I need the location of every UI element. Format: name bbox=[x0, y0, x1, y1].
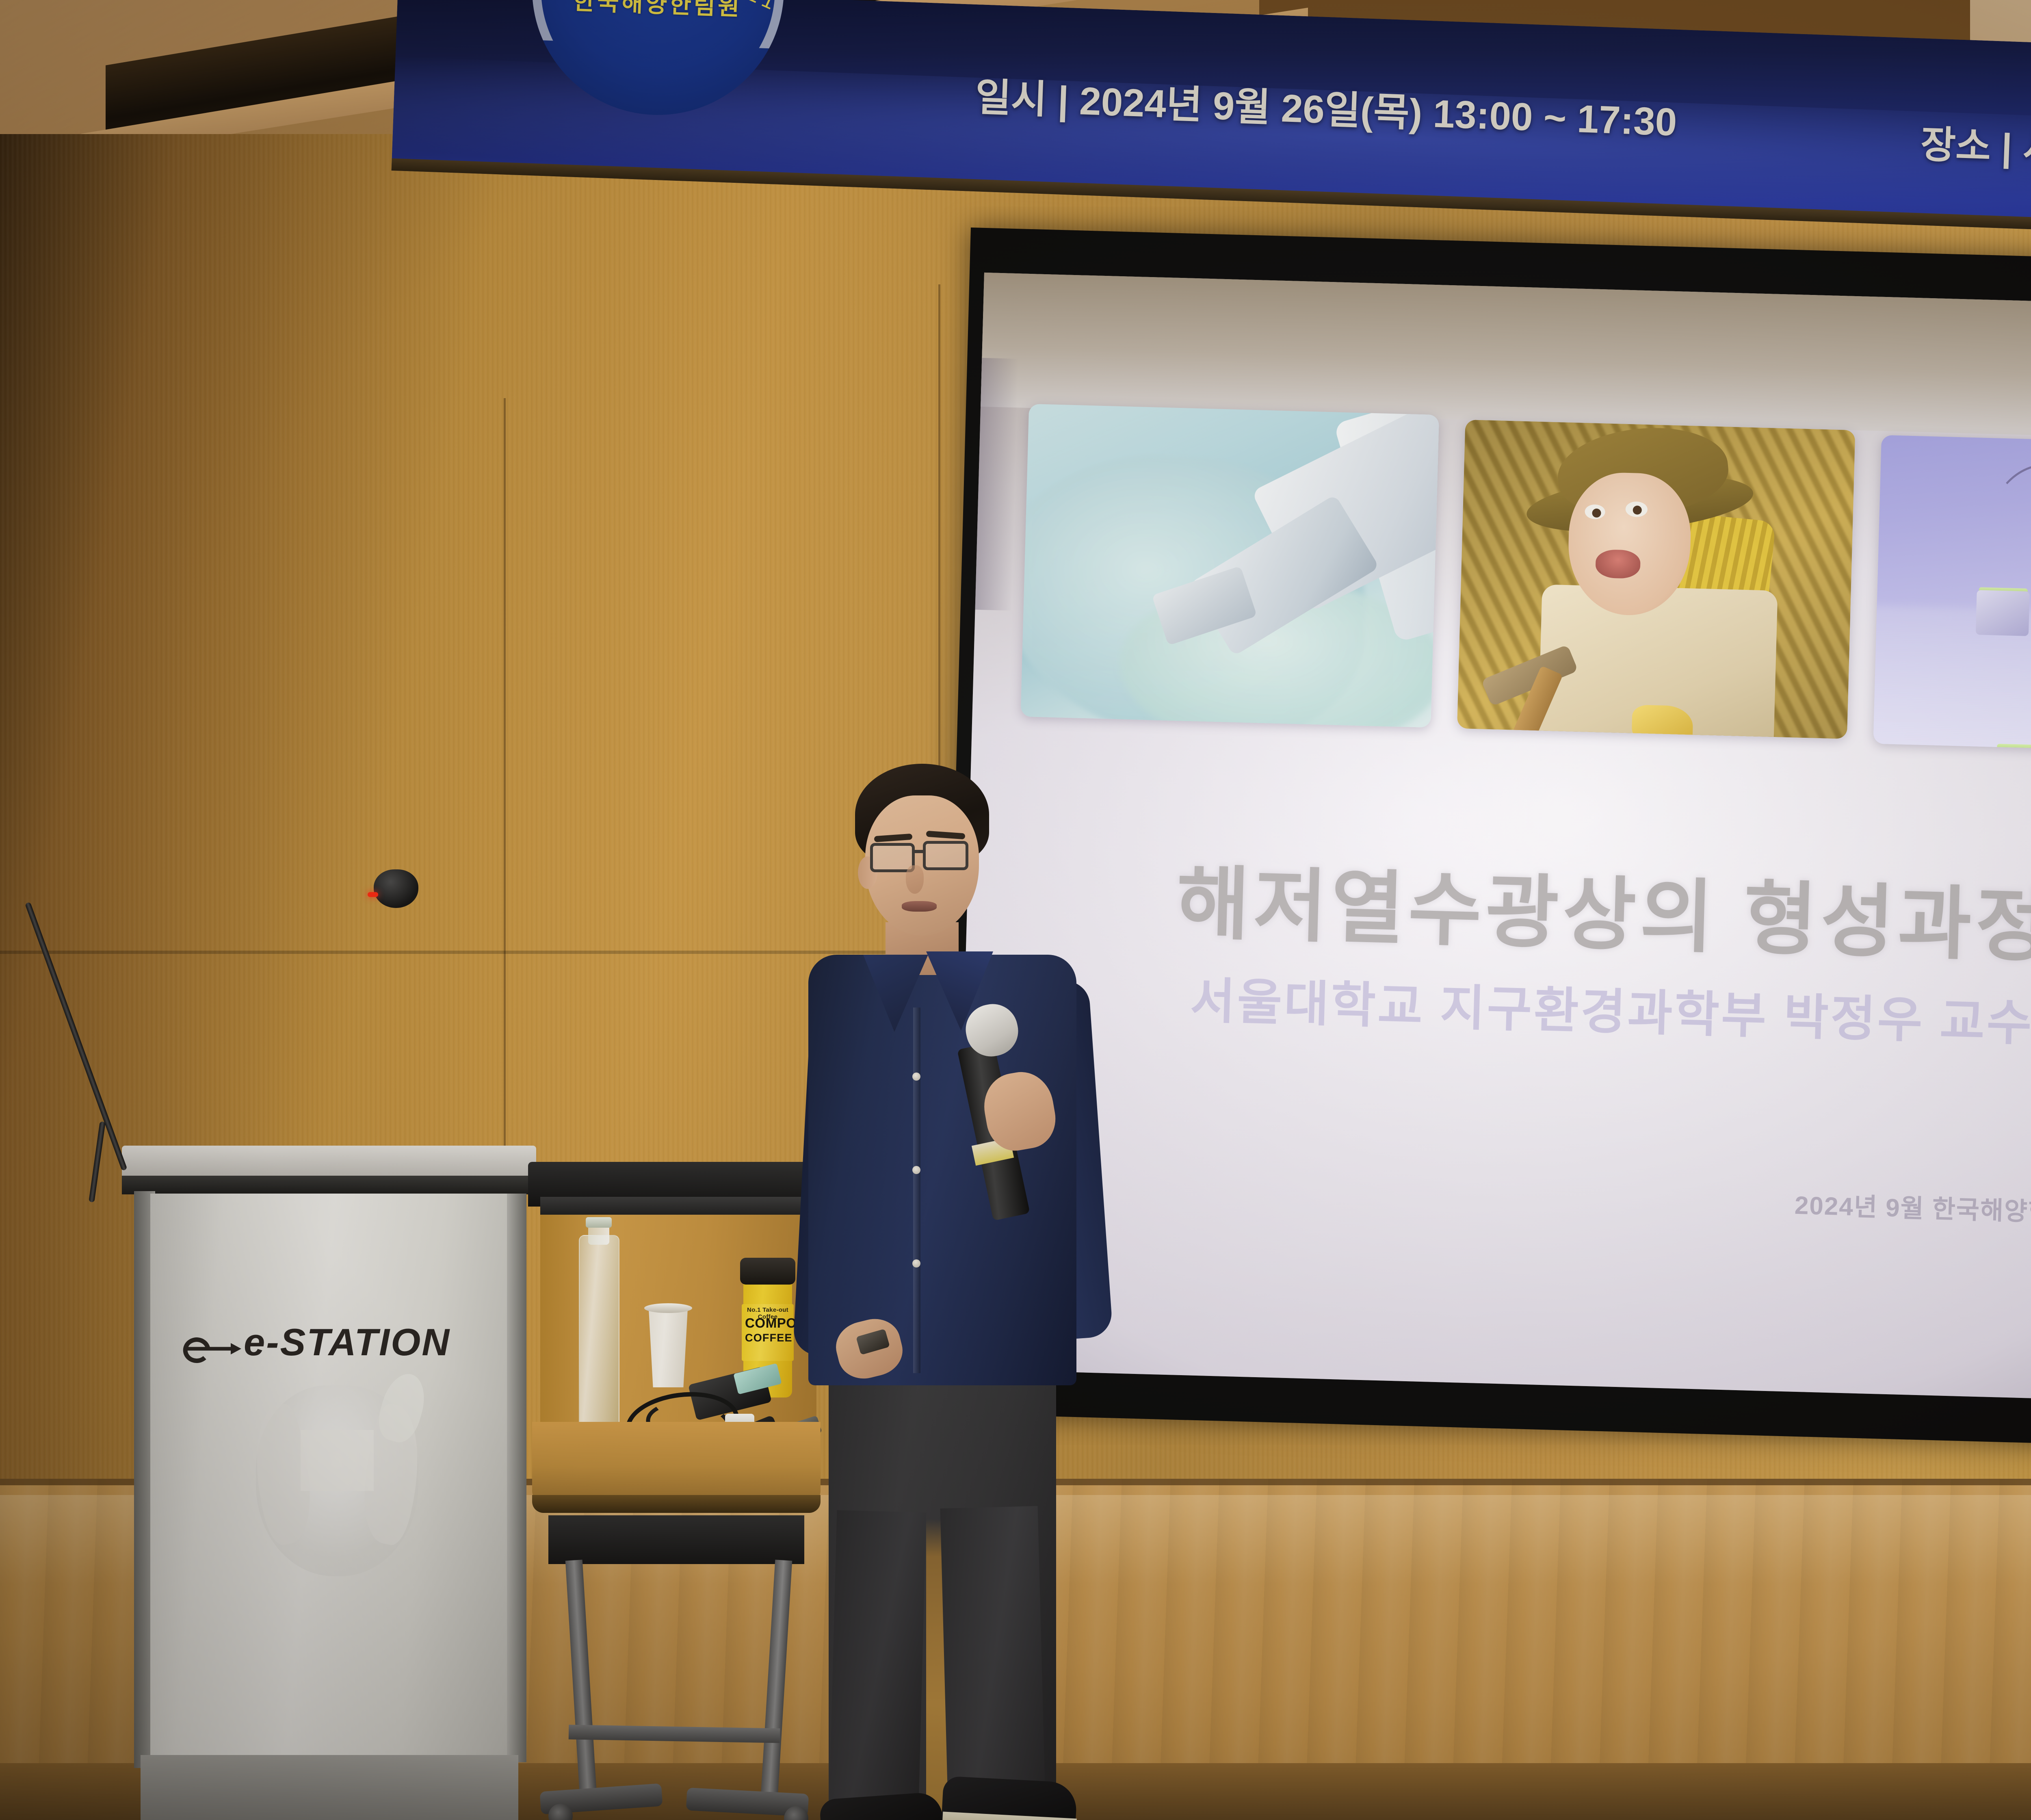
shirt-button bbox=[912, 1072, 920, 1081]
lectern-base bbox=[141, 1755, 518, 1820]
table-crossbar bbox=[569, 1725, 780, 1743]
paper-cup-rim bbox=[644, 1303, 692, 1313]
mouth bbox=[902, 901, 937, 912]
nose bbox=[906, 865, 924, 894]
crest-book bbox=[301, 1430, 374, 1491]
glasses-lens-right bbox=[923, 841, 968, 870]
shirt-button bbox=[912, 1166, 920, 1174]
slide-image-deepsea-mining bbox=[1873, 435, 2031, 754]
water-bottle-cap bbox=[586, 1217, 612, 1228]
leg-right bbox=[940, 1506, 1046, 1820]
leg-left bbox=[829, 1510, 927, 1820]
speaker bbox=[764, 764, 1129, 1820]
lectern-top-edge bbox=[122, 1176, 536, 1194]
slide-image-prospector bbox=[1457, 420, 1855, 739]
slide-image-rov bbox=[1020, 404, 1439, 728]
glasses-bridge bbox=[914, 850, 925, 853]
water-bottle bbox=[579, 1235, 619, 1430]
table-leg bbox=[565, 1560, 598, 1804]
paper-cup bbox=[646, 1306, 691, 1387]
gooseneck-mic-head bbox=[374, 869, 418, 908]
lectern-brand-label: e-STATION bbox=[244, 1320, 520, 1364]
collector-vehicle bbox=[1976, 590, 2030, 636]
lectern-right-edge bbox=[507, 1194, 526, 1762]
lecture-hall-scene: 한국해양한림원 2021 일시 | 2024년 9월 26일(목) 13:00 … bbox=[0, 0, 2031, 1820]
e-arrow-icon bbox=[183, 1329, 244, 1363]
lectern: e-STATION bbox=[134, 1146, 524, 1820]
screen-left-shadow bbox=[975, 358, 1019, 611]
open-mouth bbox=[1595, 549, 1641, 579]
mic-status-led bbox=[368, 892, 378, 897]
shirt-button bbox=[912, 1259, 920, 1267]
shirt bbox=[808, 955, 1076, 1385]
shirt-placket bbox=[913, 1007, 920, 1373]
